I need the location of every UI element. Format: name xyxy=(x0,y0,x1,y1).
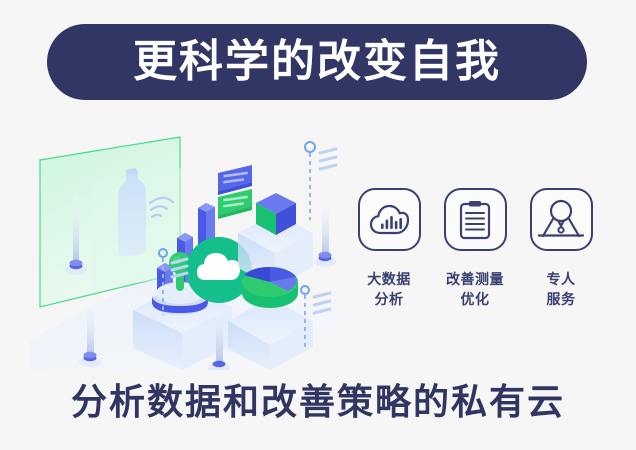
clipboard-icon xyxy=(444,188,507,251)
header-pill: 更科学的改变自我 xyxy=(47,24,587,100)
feature-item-measurement[interactable]: 改善测量 优化 xyxy=(436,188,514,310)
page-title: 更科学的改变自我 xyxy=(133,40,501,84)
dotted-marker-top-right xyxy=(305,142,336,220)
post-marker-right xyxy=(314,195,336,267)
feature-item-big-data[interactable]: 大数据 分析 xyxy=(350,188,428,310)
isometric-illustration xyxy=(30,125,350,370)
feature-list: 大数据 分析 改善测量 优化 xyxy=(350,188,600,333)
feature-item-service[interactable]: 专人 服务 xyxy=(522,188,600,310)
promo-banner: 更科学的改变自我 xyxy=(0,0,636,450)
cloud-bar-chart-icon xyxy=(358,188,421,251)
tagline: 分析数据和改善策略的私有云 xyxy=(0,382,636,422)
support-person-icon xyxy=(530,188,593,251)
feature-label-measurement: 改善测量 优化 xyxy=(446,269,504,310)
feature-label-service: 专人 服务 xyxy=(547,269,576,310)
feature-label-big-data: 大数据 分析 xyxy=(367,269,411,310)
pie-chart-3d xyxy=(242,267,298,308)
